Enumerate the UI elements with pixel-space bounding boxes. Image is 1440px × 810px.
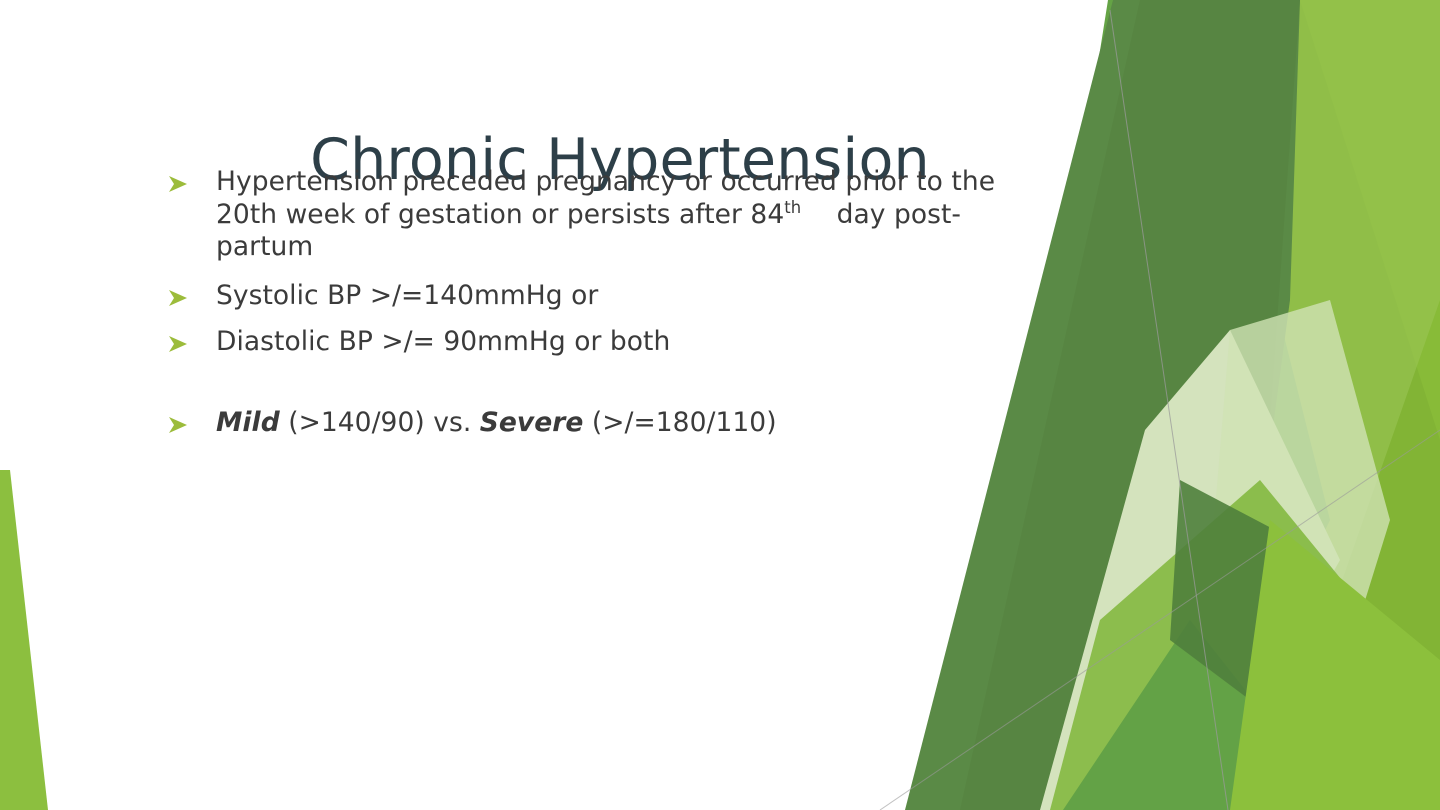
slide: Chronic Hypertension Hypertension preced… [0, 0, 1440, 810]
list-item: Hypertension preceded pregnancy or occur… [168, 166, 1028, 264]
green-right-arrow-bullet-icon [168, 280, 216, 307]
severity-severe-label: Severe [480, 407, 584, 438]
list-item-text: Systolic BP >/=140mmHg or [216, 280, 1028, 313]
list-item-text: Mild (>140/90) vs. Severe (>/=180/110) [216, 407, 1028, 440]
bullet-list: Hypertension preceded pregnancy or occur… [168, 166, 1028, 453]
list-item: Diastolic BP >/= 90mmHg or both [168, 326, 1028, 359]
severity-severe-range: (>/=180/110) [583, 407, 776, 438]
severity-mild-range: (>140/90) vs. [280, 407, 480, 438]
bullet-1-superscript: th [784, 198, 801, 217]
list-item-text: Diastolic BP >/= 90mmHg or both [216, 326, 1028, 359]
list-item: Systolic BP >/=140mmHg or [168, 280, 1028, 313]
list-item-text: Hypertension preceded pregnancy or occur… [216, 166, 1028, 264]
severity-mild-label: Mild [216, 407, 280, 438]
slide-content: Chronic Hypertension Hypertension preced… [0, 0, 1440, 810]
green-right-arrow-bullet-icon [168, 407, 216, 434]
list-item: Mild (>140/90) vs. Severe (>/=180/110) [168, 407, 1028, 440]
green-right-arrow-bullet-icon [168, 326, 216, 353]
green-right-arrow-bullet-icon [168, 166, 216, 193]
